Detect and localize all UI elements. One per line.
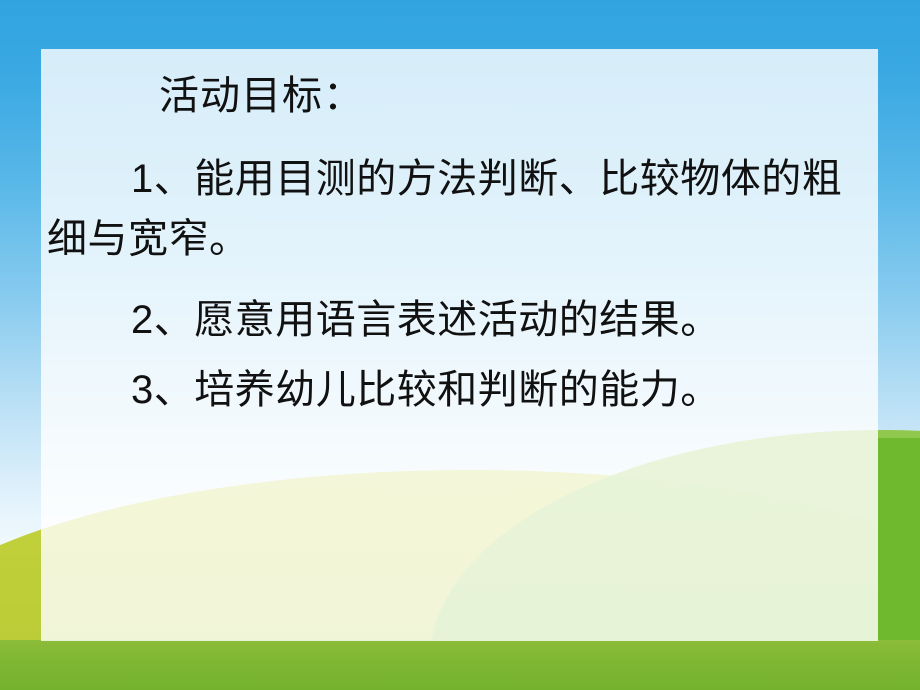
content-panel: 活动目标： 1、能用目测的方法判断、比较物体的粗细与宽窄。 2、愿意用语言表述活… [41, 49, 878, 641]
background-green-bottom-band [0, 640, 920, 690]
content-panel-body: 活动目标： 1、能用目测的方法判断、比较物体的粗细与宽窄。 2、愿意用语言表述活… [41, 49, 878, 641]
list-item: 3、培养幼儿比较和判断的能力。 [47, 361, 872, 421]
list-item: 1、能用目测的方法判断、比较物体的粗细与宽窄。 [47, 150, 872, 269]
slide-canvas: 活动目标： 1、能用目测的方法判断、比较物体的粗细与宽窄。 2、愿意用语言表述活… [0, 0, 920, 690]
list-item: 2、愿意用语言表述活动的结果。 [47, 291, 872, 351]
page-title: 活动目标： [41, 73, 878, 120]
objective-list: 1、能用目测的方法判断、比较物体的粗细与宽窄。 2、愿意用语言表述活动的结果。 … [41, 150, 878, 426]
